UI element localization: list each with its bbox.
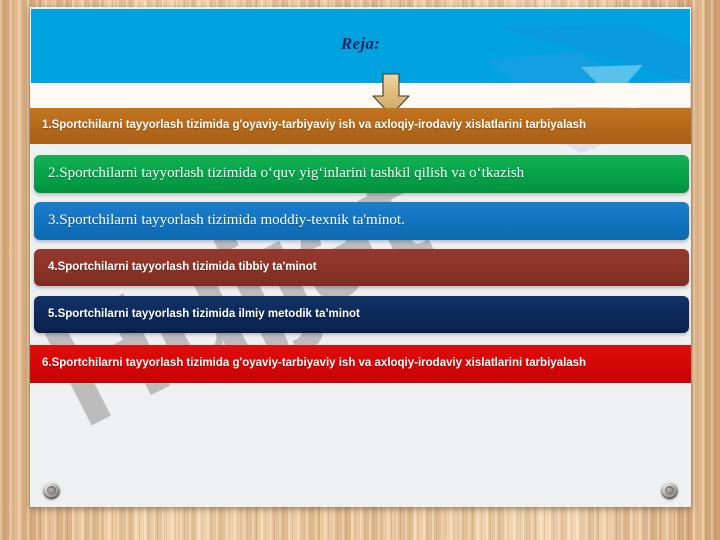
agenda-list: 1.Sportchilarni tayyorlash tizimida g'oy… <box>30 7 691 507</box>
list-item[interactable]: 4.Sportchilarni tayyorlash tizimida tibb… <box>34 249 689 286</box>
list-item-label: 6.Sportchilarni tayyorlash tizimida g'oy… <box>42 357 586 370</box>
list-item[interactable]: 1.Sportchilarni tayyorlash tizimida g'oy… <box>30 108 691 144</box>
list-item[interactable]: 2.Sportchilarni tayyorlash tizimida o‘qu… <box>34 155 689 193</box>
list-item-label: 5.Sportchilarni tayyorlash tizimida ilmi… <box>48 308 360 321</box>
list-item-label: 1.Sportchilarni tayyorlash tizimida g'oy… <box>42 119 586 132</box>
list-item[interactable]: 6.Sportchilarni tayyorlash tizimida g'oy… <box>30 345 691 383</box>
list-item-label: 4.Sportchilarni tayyorlash tizimida tibb… <box>48 261 317 274</box>
list-item-label: 2.Sportchilarni tayyorlash tizimida o‘qu… <box>48 165 524 182</box>
slide-panel: Reja: Hujjat <box>30 7 691 507</box>
desk-background: Reja: Hujjat <box>0 0 720 540</box>
list-item[interactable]: 5.Sportchilarni tayyorlash tizimida ilmi… <box>34 296 689 333</box>
screw-icon <box>43 482 60 499</box>
list-item-label: 3.Sportchilarni tayyorlash tizimida modd… <box>48 212 405 229</box>
screw-icon <box>661 482 678 499</box>
list-item[interactable]: 3.Sportchilarni tayyorlash tizimida modd… <box>34 202 689 240</box>
